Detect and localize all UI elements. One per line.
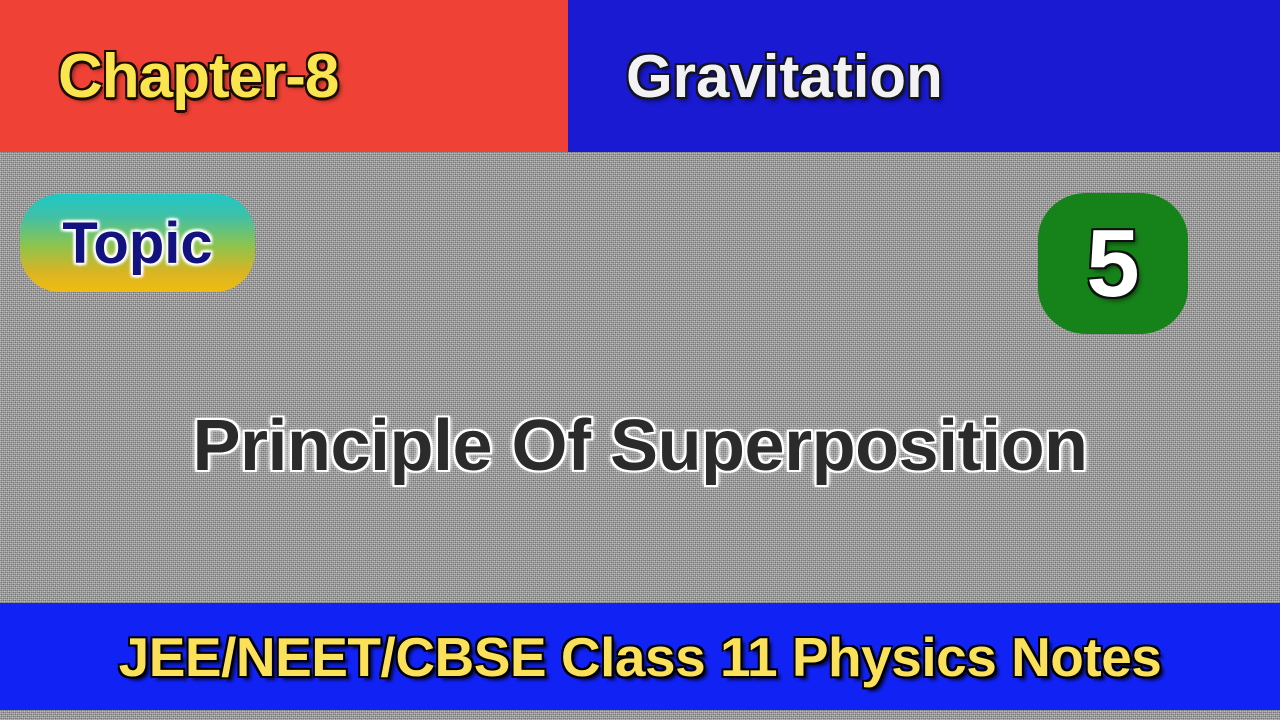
topic-number-label: 5 bbox=[1086, 216, 1139, 312]
topic-badge: Topic bbox=[20, 194, 255, 292]
header-chapter-panel: Chapter-8 bbox=[0, 0, 568, 152]
bottom-edge-strip bbox=[0, 710, 1280, 720]
header-bar: Chapter-8 Gravitation bbox=[0, 0, 1280, 152]
footer-bar: JEE/NEET/CBSE Class 11 Physics Notes bbox=[0, 603, 1280, 710]
chapter-label: Chapter-8 bbox=[58, 41, 338, 112]
page-title: Principle Of Superposition bbox=[0, 405, 1280, 487]
topic-number-badge: 5 bbox=[1038, 193, 1188, 334]
footer-label: JEE/NEET/CBSE Class 11 Physics Notes bbox=[119, 625, 1162, 689]
subject-label: Gravitation bbox=[626, 42, 943, 111]
slide-canvas: Chapter-8 Gravitation Topic 5 Principle … bbox=[0, 0, 1280, 720]
topic-badge-label: Topic bbox=[62, 210, 212, 277]
header-subject-panel: Gravitation bbox=[568, 0, 1280, 152]
